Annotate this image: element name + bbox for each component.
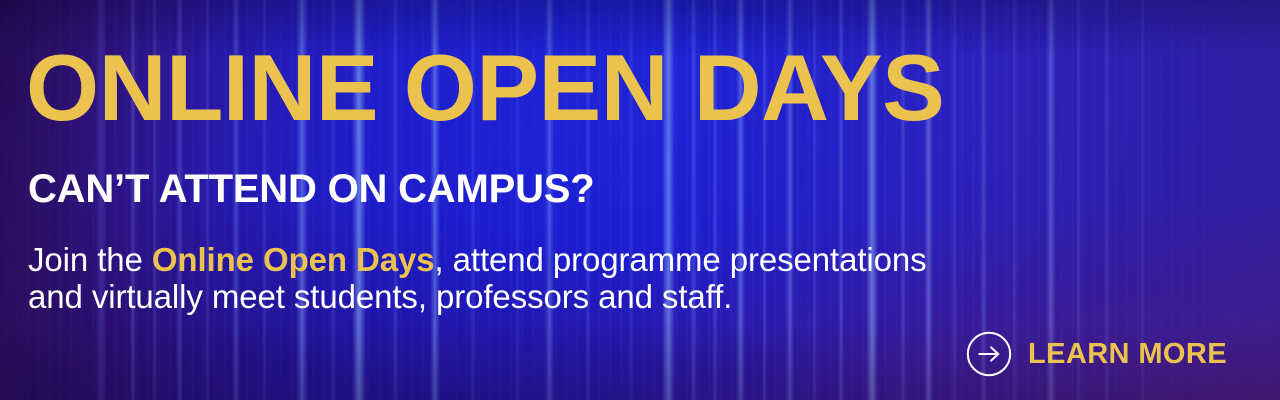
online-open-days-banner: ONLINE OPEN DAYS CAN’T ATTEND ON CAMPUS?…: [0, 0, 1280, 400]
body-line1-suffix: , attend programme presentations: [435, 241, 927, 278]
body-line-1: Join the Online Open Days, attend progra…: [28, 241, 927, 278]
circled-arrow-right-icon[interactable]: [966, 331, 1012, 377]
banner-subheadline: CAN’T ATTEND ON CAMPUS?: [28, 166, 594, 212]
banner-content: ONLINE OPEN DAYS CAN’T ATTEND ON CAMPUS?…: [0, 0, 1280, 400]
body-line1-prefix: Join the: [28, 241, 152, 278]
banner-headline: ONLINE OPEN DAYS: [26, 38, 944, 138]
learn-more-label: LEARN MORE: [1028, 340, 1227, 369]
body-line-2: and virtually meet students, professors …: [28, 278, 927, 315]
banner-body-copy: Join the Online Open Days, attend progra…: [28, 241, 927, 315]
body-line1-highlight: Online Open Days: [152, 241, 435, 278]
learn-more-button[interactable]: LEARN MORE: [966, 331, 1227, 377]
